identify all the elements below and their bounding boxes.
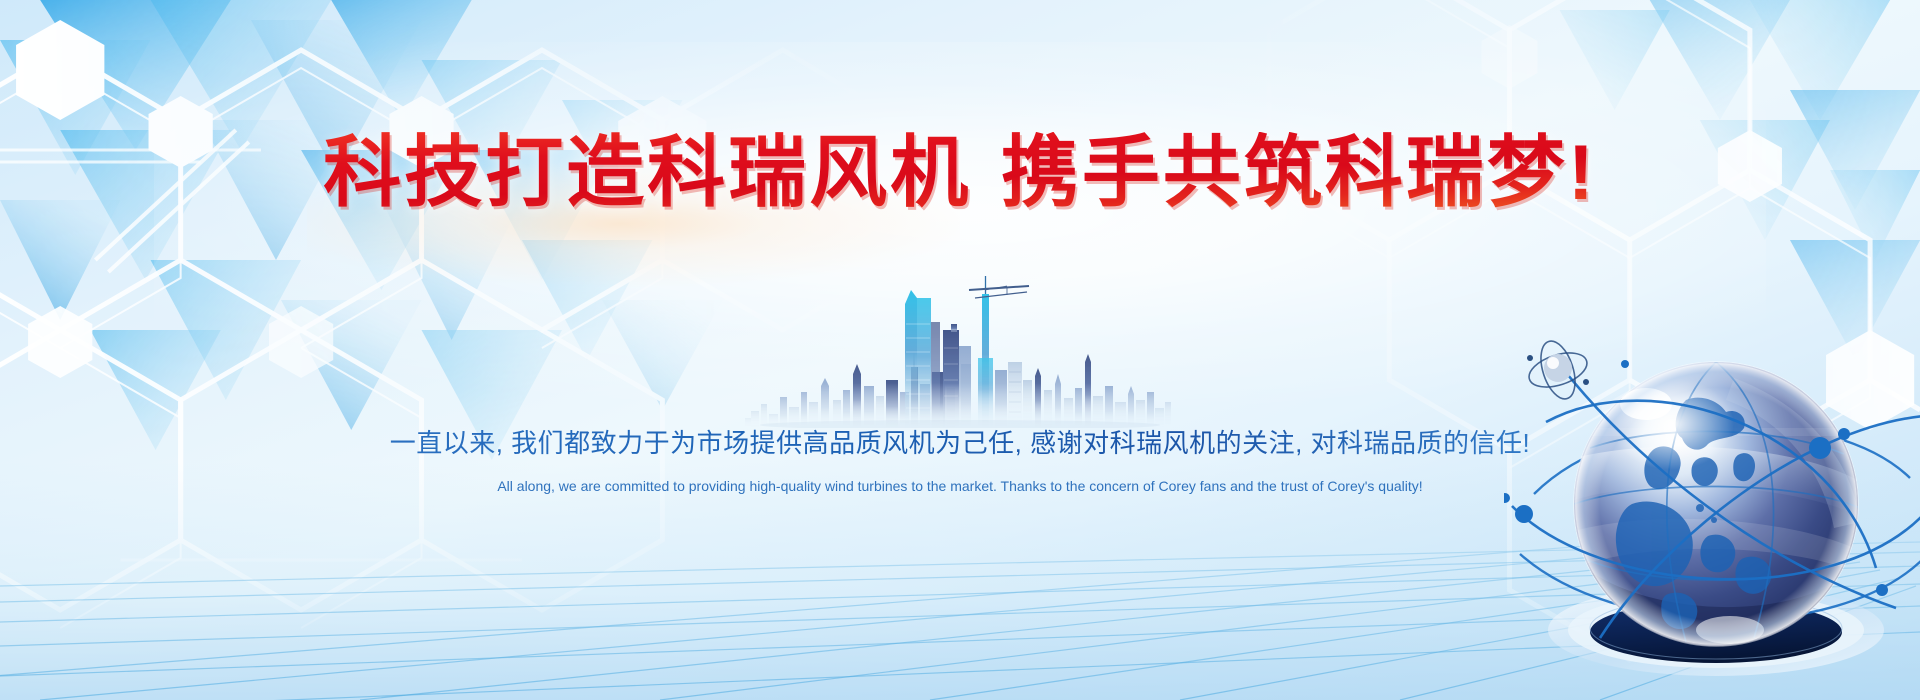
- headline-part-1: 科技打造科瑞风机: [323, 128, 971, 216]
- subtitle-chinese: 一直以来, 我们都致力于为市场提供高品质风机为己任, 感谢对科瑞风机的关注, 对…: [390, 426, 1531, 461]
- page-title: 科技打造科瑞风机携手共筑科瑞梦!: [323, 132, 1597, 213]
- subtitle-block: 一直以来, 我们都致力于为市场提供高品质风机为己任, 感谢对科瑞风机的关注, 对…: [0, 426, 1920, 495]
- headline-part-2: 携手共筑科瑞梦!: [1001, 128, 1597, 216]
- globe-graphic: [1504, 308, 1920, 700]
- atom-node-icon: [1525, 337, 1591, 403]
- headline-block: 科技打造科瑞风机携手共筑科瑞梦!: [0, 132, 1920, 213]
- city-skyline-graphic: [745, 268, 1175, 428]
- promo-banner: 科技打造科瑞风机携手共筑科瑞梦! 一直以来, 我们都致力于为市场提供高品质风机为…: [0, 0, 1920, 700]
- subtitle-english: All along, we are committed to providing…: [0, 477, 1920, 495]
